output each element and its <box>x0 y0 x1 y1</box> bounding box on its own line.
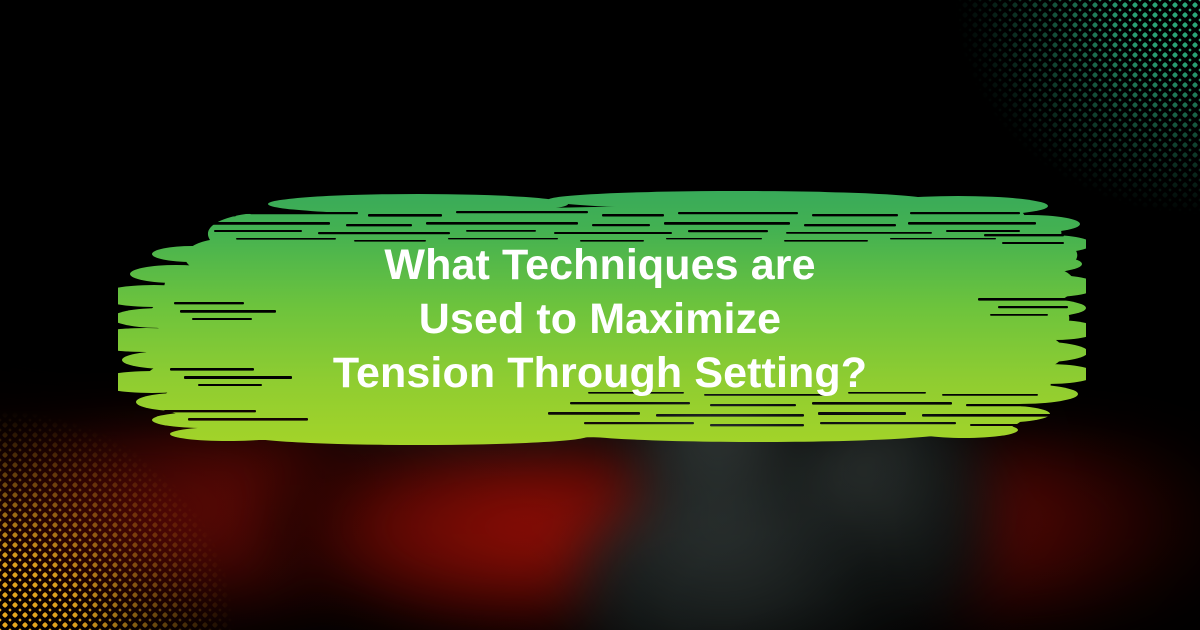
hero-card: What Techniques are Used to Maximize Ten… <box>0 0 1200 630</box>
brush-stroke-banner <box>118 178 1086 460</box>
